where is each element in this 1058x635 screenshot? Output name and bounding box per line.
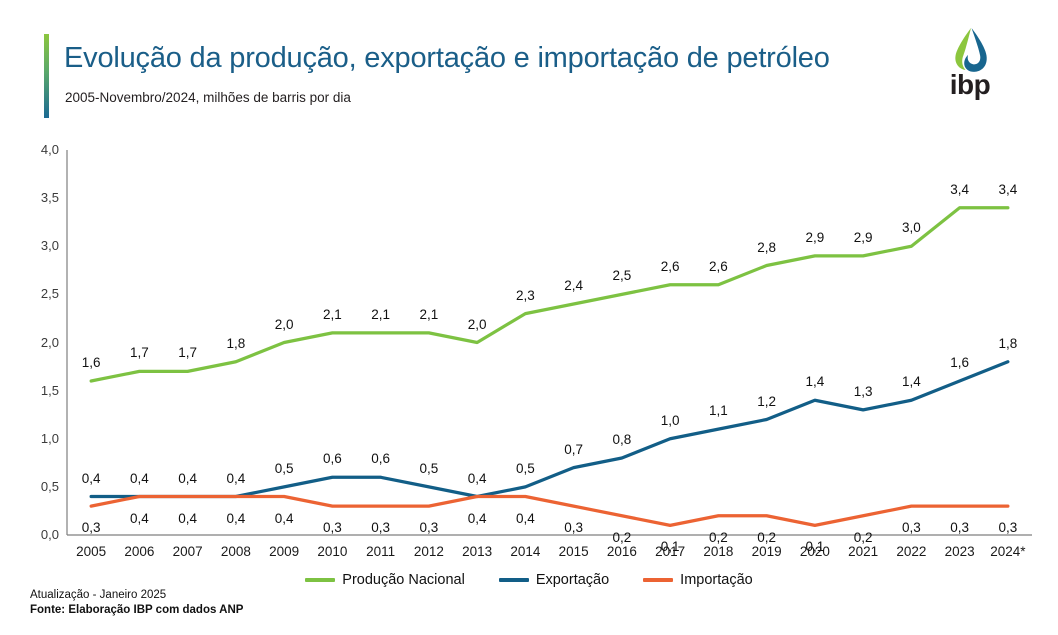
data-label: 0,3 <box>988 520 1028 535</box>
data-label: 1,3 <box>843 384 883 399</box>
legend-label: Importação <box>680 572 753 588</box>
data-label: 0,3 <box>554 520 594 535</box>
chart-page: Evolução da produção, exportação e impor… <box>0 0 1058 635</box>
data-label: 1,4 <box>891 374 931 389</box>
footer-source: Fonte: Elaboração IBP com dados ANP <box>30 603 243 618</box>
x-axis-tick: 2024* <box>978 544 1038 559</box>
data-label: 0,4 <box>216 511 256 526</box>
data-label: 0,8 <box>602 432 642 447</box>
data-label: 2,6 <box>650 259 690 274</box>
data-label: 3,0 <box>891 220 931 235</box>
data-label: 3,4 <box>940 182 980 197</box>
legend-label: Exportação <box>536 572 609 588</box>
data-label: 0,4 <box>457 511 497 526</box>
data-label: 0,3 <box>312 520 352 535</box>
data-label: 2,3 <box>505 288 545 303</box>
data-label: 2,0 <box>457 317 497 332</box>
y-axis-tick: 2,0 <box>19 335 59 350</box>
data-label: 0,4 <box>505 511 545 526</box>
data-label: 0,2 <box>843 530 883 545</box>
data-label: 1,8 <box>216 336 256 351</box>
data-label: 0,3 <box>891 520 931 535</box>
legend-item[interactable]: Importação <box>643 572 753 588</box>
data-label: 0,4 <box>168 511 208 526</box>
data-label: 0,4 <box>168 471 208 486</box>
data-label: 2,9 <box>795 230 835 245</box>
data-label: 0,2 <box>698 530 738 545</box>
data-label: 0,5 <box>409 461 449 476</box>
data-label: 1,2 <box>747 394 787 409</box>
data-label: 1,6 <box>940 355 980 370</box>
data-label: 0,3 <box>361 520 401 535</box>
data-label: 0,3 <box>409 520 449 535</box>
data-label: 2,8 <box>747 240 787 255</box>
y-axis-tick: 0,5 <box>19 479 59 494</box>
data-label: 1,0 <box>650 413 690 428</box>
data-label: 0,2 <box>602 530 642 545</box>
chart-canvas <box>0 0 1058 635</box>
legend-item[interactable]: Exportação <box>499 572 609 588</box>
data-label: 2,6 <box>698 259 738 274</box>
legend-item[interactable]: Produção Nacional <box>305 572 465 588</box>
legend-swatch-icon <box>499 578 529 582</box>
data-label: 0,5 <box>505 461 545 476</box>
y-axis-tick: 4,0 <box>19 142 59 157</box>
data-label: 0,4 <box>457 471 497 486</box>
data-label: 1,7 <box>168 345 208 360</box>
data-label: 2,9 <box>843 230 883 245</box>
data-label: 0,2 <box>747 530 787 545</box>
data-label: 0,4 <box>119 511 159 526</box>
y-axis-tick: 3,5 <box>19 190 59 205</box>
y-axis-tick: 3,0 <box>19 238 59 253</box>
data-label: 1,8 <box>988 336 1028 351</box>
data-label: 2,1 <box>312 307 352 322</box>
y-axis-tick: 1,5 <box>19 383 59 398</box>
data-label: 1,6 <box>71 355 111 370</box>
data-label: 2,1 <box>409 307 449 322</box>
legend-swatch-icon <box>305 578 335 582</box>
legend-label: Produção Nacional <box>342 572 465 588</box>
data-label: 0,6 <box>312 451 352 466</box>
data-label: 0,3 <box>71 520 111 535</box>
y-axis-tick: 1,0 <box>19 431 59 446</box>
data-label: 0,6 <box>361 451 401 466</box>
chart-footer: Atualização - Janeiro 2025 Fonte: Elabor… <box>30 588 243 618</box>
data-label: 0,1 <box>795 539 835 554</box>
data-label: 2,4 <box>554 278 594 293</box>
chart-plot-area: 4,03,53,02,52,01,51,00,50,0 200520062007… <box>0 0 1058 635</box>
y-axis-tick: 2,5 <box>19 286 59 301</box>
data-label: 0,1 <box>650 539 690 554</box>
data-label: 0,4 <box>216 471 256 486</box>
data-label: 0,4 <box>264 511 304 526</box>
data-label: 3,4 <box>988 182 1028 197</box>
data-label: 0,3 <box>940 520 980 535</box>
data-label: 1,4 <box>795 374 835 389</box>
data-label: 2,1 <box>361 307 401 322</box>
footer-update: Atualização - Janeiro 2025 <box>30 588 243 603</box>
legend-swatch-icon <box>643 578 673 582</box>
data-label: 0,4 <box>71 471 111 486</box>
chart-legend: Produção NacionalExportaçãoImportação <box>0 572 1058 588</box>
data-label: 2,5 <box>602 268 642 283</box>
data-label: 0,4 <box>119 471 159 486</box>
data-label: 1,1 <box>698 403 738 418</box>
data-label: 0,7 <box>554 442 594 457</box>
data-label: 2,0 <box>264 317 304 332</box>
data-label: 1,7 <box>119 345 159 360</box>
y-axis-tick: 0,0 <box>19 527 59 542</box>
data-label: 0,5 <box>264 461 304 476</box>
